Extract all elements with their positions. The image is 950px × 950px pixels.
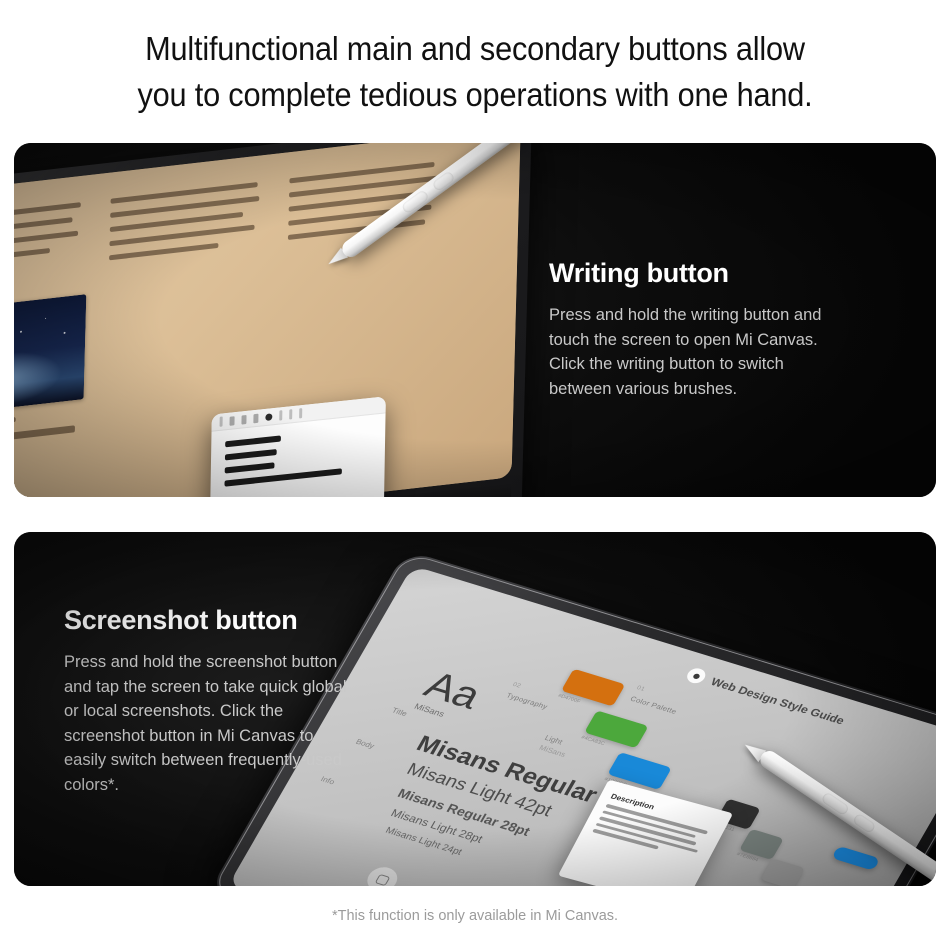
writing-button-description: Press and hold the writing button and to… — [549, 303, 909, 401]
text-column-middle — [109, 182, 260, 261]
lasso-icon — [289, 409, 292, 419]
palette-section-number: 01 — [635, 685, 646, 693]
screenshot-button-copy: Screenshot button Press and hold the scr… — [64, 604, 424, 797]
typography-section-label: Typography — [505, 691, 550, 711]
mi-canvas-note-overlay: 1 / 2 100% — [209, 396, 386, 497]
pen-tool-icon — [229, 416, 234, 426]
product-feature-page: Multifunctional main and secondary butto… — [0, 0, 950, 950]
more-icon — [299, 408, 302, 418]
app-icon-1[interactable] — [362, 864, 402, 886]
undo-icon — [220, 416, 223, 426]
palette-section-label: Color Palette — [629, 694, 678, 715]
writing-button-copy: Writing button Press and hold the writin… — [549, 257, 909, 401]
night-sky-illustration — [14, 294, 86, 417]
label-light-sub: MiSans — [538, 744, 568, 759]
marker-tool-icon — [253, 413, 258, 423]
avatar-icon — [684, 666, 708, 685]
text-column-left — [14, 202, 81, 266]
primary-action-button[interactable] — [831, 846, 880, 871]
footnote-text: *This function is only available in Mi C… — [0, 906, 950, 926]
swatch-light[interactable] — [760, 858, 805, 886]
page-headline: Multifunctional main and secondary butto… — [33, 26, 917, 118]
screenshot-button-description: Press and hold the screenshot button and… — [64, 650, 424, 797]
color-swatch-icon — [265, 413, 272, 421]
panel-writing-button: 1 / 2 100% Writing button Press and hold… — [14, 143, 936, 497]
handwriting-strokes — [224, 429, 342, 487]
screenshot-button-title: Screenshot button — [64, 604, 424, 636]
style-guide-header: Web Design Style Guide — [684, 666, 848, 728]
typography-section-number: 02 — [511, 681, 522, 689]
text-caption-block — [14, 410, 75, 449]
writing-button-title: Writing button — [549, 257, 909, 289]
panel-screenshot-button: Web Design Style Guide 01 Color Palette … — [14, 532, 936, 886]
pencil-tool-icon — [241, 414, 246, 424]
eraser-icon — [279, 410, 282, 420]
